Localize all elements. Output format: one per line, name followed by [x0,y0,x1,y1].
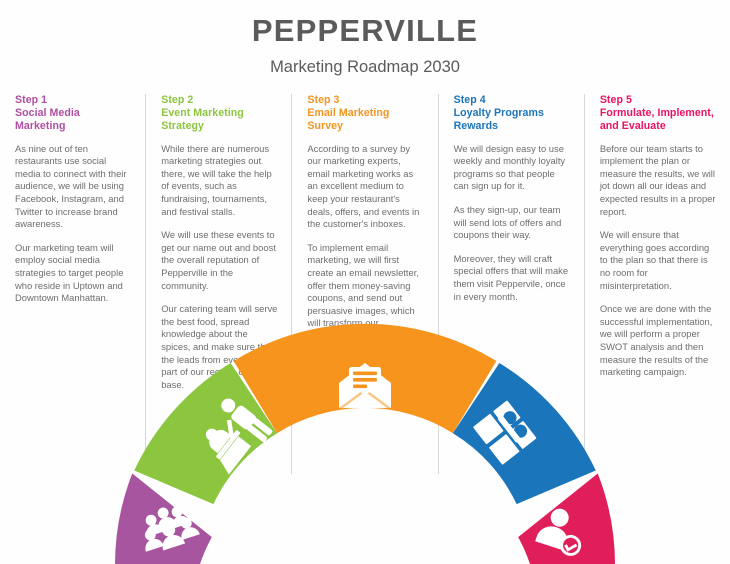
column-3-heading: Step 3 Email Marketing Survey [307,94,423,134]
column-2-paragraph-2: We will use these events to get our name… [161,229,277,292]
column-5-paragraph-3: Once we are done with the successful imp… [600,303,716,379]
column-3-heading-line1: Email Marketing [307,107,389,119]
column-5-paragraph-2: We will ensure that everything goes acco… [600,229,716,292]
column-5-heading-line1: Formulate, Implement, [600,107,714,119]
column-4-paragraph-1: We will design easy to use weekly and mo… [454,143,570,193]
column-5-heading-line2: and Evaluate [600,120,666,132]
column-2-heading: Step 2 Event Marketing Strategy [161,94,277,134]
column-2-paragraph-1: While there are numerous marketing strat… [161,143,277,219]
arc-segment-step-5[interactable] [518,474,615,564]
column-2-heading-line1: Event Marketing [161,107,244,119]
page-title: PEPPERVILLE [0,14,730,48]
roadmap-column-1: Step 1 Social Media Marketing As nine ou… [0,94,145,474]
column-3-paragraph-1: According to a survey by our marketing e… [307,143,423,231]
roadmap-column-5: Step 5 Formulate, Implement, and Evaluat… [584,94,730,474]
column-1-paragraph-2: Our marketing team will employ social me… [15,242,131,305]
column-1-step-label: Step 1 [15,94,47,106]
column-3-body: According to a survey by our marketing e… [307,143,423,356]
column-5-body: Before our team starts to implement the … [600,143,716,379]
column-1-heading-line1: Social Media [15,107,80,119]
column-4-paragraph-3: Moreover, they will craft special offers… [454,253,570,303]
arc-segment-step-1[interactable] [115,474,212,564]
column-1-body: As nine out of ten restaurants use socia… [15,143,131,305]
column-3-paragraph-2: To implement email marketing, we will fi… [307,242,423,355]
roadmap-column-2: Step 2 Event Marketing Strategy While th… [145,94,291,474]
roadmap-column-3: Step 3 Email Marketing Survey According … [291,94,437,474]
roadmap-columns: Step 1 Social Media Marketing As nine ou… [0,94,730,474]
column-2-body: While there are numerous marketing strat… [161,143,277,392]
column-4-heading-line2: Rewards [454,120,499,132]
column-5-paragraph-1: Before our team starts to implement the … [600,143,716,219]
group-people-icon [134,499,201,556]
column-4-heading-line1: Loyalty Programs [454,107,544,119]
column-4-step-label: Step 4 [454,94,486,106]
column-2-step-label: Step 2 [161,94,193,106]
column-1-heading-line2: Marketing [15,120,66,132]
page-header: PEPPERVILLE Marketing Roadmap 2030 [0,14,730,76]
column-5-step-label: Step 5 [600,94,632,106]
column-5-heading: Step 5 Formulate, Implement, and Evaluat… [600,94,716,134]
column-1-paragraph-1: As nine out of ten restaurants use socia… [15,143,131,231]
page-subtitle: Marketing Roadmap 2030 [0,58,730,76]
column-2-paragraph-3: Our catering team will serve the best fo… [161,303,277,391]
column-4-heading: Step 4 Loyalty Programs Rewards [454,94,570,134]
column-3-heading-line2: Survey [307,120,343,132]
column-3-step-label: Step 3 [307,94,339,106]
user-check-icon [534,504,590,558]
roadmap-column-4: Step 4 Loyalty Programs Rewards We will … [438,94,584,474]
column-4-paragraph-2: As they sign-up, our team will send lots… [454,204,570,242]
column-2-heading-line2: Strategy [161,120,204,132]
column-4-body: We will design easy to use weekly and mo… [454,143,570,304]
column-1-heading: Step 1 Social Media Marketing [15,94,131,134]
